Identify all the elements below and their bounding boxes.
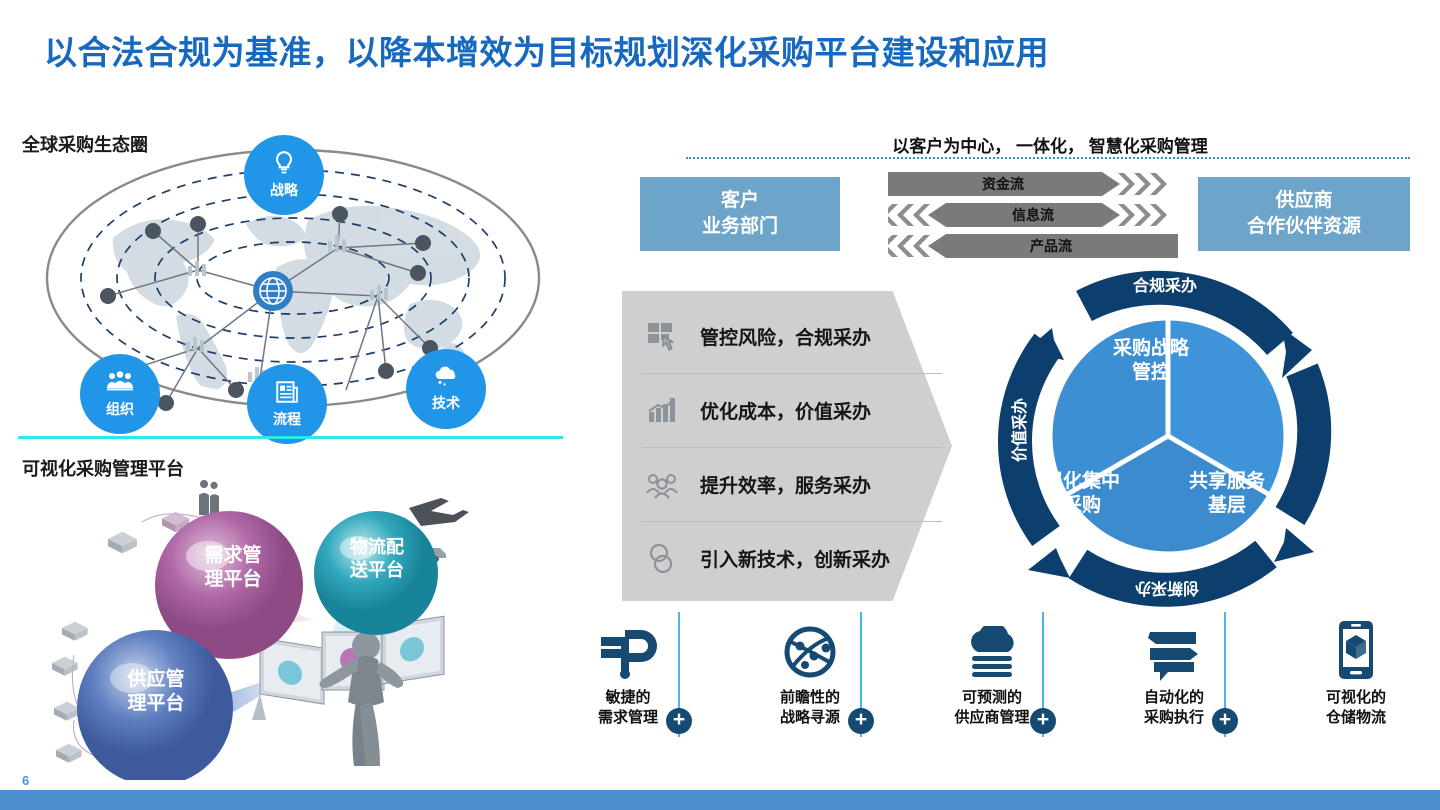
supplier-partner-box: 供应商 合作伙伴资源 bbox=[1198, 177, 1410, 251]
header-dotted-rule bbox=[686, 157, 1410, 159]
mobile-box-icon bbox=[1296, 620, 1416, 682]
cloud-icon bbox=[431, 365, 461, 389]
segment-centralized-line-1: 强化集中 bbox=[1044, 470, 1120, 494]
page-title: 以合法合规为基准，以降本增效为目标规划深化采购平台建设和应用 bbox=[44, 26, 1049, 74]
goal-item-innovation: 引入新技术，创新采办 bbox=[642, 522, 942, 595]
segment-centralized-line-2: 采购 bbox=[1044, 494, 1120, 518]
ring-label-compliance: 合规采办 bbox=[1133, 272, 1197, 296]
sphere-label-demand: 需求管 理平台 bbox=[178, 544, 288, 592]
plug-connector-icon bbox=[568, 620, 688, 682]
document-list-icon bbox=[274, 379, 300, 405]
goal-label-innovation: 引入新技术，创新采办 bbox=[700, 545, 890, 572]
flow-row-funds: 资金流 bbox=[888, 172, 1178, 196]
plus-icon-3: + bbox=[1030, 708, 1056, 734]
plus-icon-2: + bbox=[848, 708, 874, 734]
slide-root: 以合法合规为基准，以降本增效为目标规划深化采购平台建设和应用 全球采购生态圈 bbox=[0, 0, 1440, 810]
people-silhouette bbox=[199, 480, 219, 515]
click-tiles-icon bbox=[642, 317, 682, 357]
eco-node-strategy-label: 战略 bbox=[270, 180, 298, 200]
customer-box-line-1: 客户 bbox=[721, 188, 759, 214]
customer-department-box: 客户 业务部门 bbox=[640, 177, 840, 251]
ring-label-service: 服务采办 bbox=[1342, 398, 1366, 462]
linked-rings-icon bbox=[642, 539, 682, 579]
goal-label-cost: 优化成本，价值采办 bbox=[700, 397, 871, 424]
segment-strategy-line-1: 采购战略 bbox=[1113, 337, 1189, 361]
capability-warehouse-logistics-label: 可视化的 仓储物流 bbox=[1296, 688, 1416, 727]
flow-arrows-group: 资金流 信息流 产品流 bbox=[888, 172, 1178, 258]
flow-label-information: 信息流 bbox=[888, 203, 1178, 227]
goal-item-risk: 管控风险，合规采办 bbox=[642, 300, 942, 374]
goals-list: 管控风险，合规采办 优化成本，价值采办 bbox=[642, 300, 942, 595]
global-procurement-ecosystem-diagram: 战略 组织 流程 bbox=[8, 128, 578, 428]
procurement-strategy-donut bbox=[990, 258, 1346, 614]
segment-shared-line-1: 共享服务 bbox=[1189, 470, 1265, 494]
flow-label-product: 产品流 bbox=[888, 234, 1178, 258]
eco-node-process-label: 流程 bbox=[273, 409, 301, 429]
plus-icon-1: + bbox=[666, 708, 692, 734]
goal-label-efficiency: 提升效率，服务采办 bbox=[700, 471, 871, 498]
eco-node-technology[interactable]: 技术 bbox=[406, 349, 486, 429]
capability-warehouse-logistics[interactable]: 可视化的 仓储物流 bbox=[1296, 620, 1416, 727]
segment-label-strategy: 采购战略 管控 bbox=[1113, 337, 1189, 386]
footer-bar bbox=[0, 790, 1440, 810]
ring-label-innovation: 创新采办 bbox=[1135, 578, 1199, 602]
exchange-chat-icon bbox=[1114, 620, 1234, 682]
lightbulb-icon bbox=[271, 150, 297, 176]
eco-node-process[interactable]: 流程 bbox=[247, 364, 327, 444]
sphere-label-supply: 供应管 理平台 bbox=[100, 668, 212, 716]
ring-label-value: 价值采办 bbox=[1006, 398, 1030, 462]
goal-label-risk: 管控风险，合规采办 bbox=[700, 323, 871, 350]
segment-label-shared-service: 共享服务 基层 bbox=[1189, 470, 1265, 519]
supplier-box-line-2: 合作伙伴资源 bbox=[1247, 214, 1361, 240]
visual-procurement-platform-illustration: 需求管 理平台 供应管 理平台 物流配 送平台 bbox=[14, 470, 574, 780]
section-divider bbox=[18, 436, 563, 439]
flow-row-product: 产品流 bbox=[888, 234, 1178, 258]
plus-icon-4: + bbox=[1212, 708, 1238, 734]
airplane-icon bbox=[409, 498, 469, 526]
goal-item-efficiency: 提升效率，服务采办 bbox=[642, 448, 942, 522]
segment-label-centralized: 强化集中 采购 bbox=[1044, 470, 1120, 519]
capability-strip: 敏捷的 需求管理 + 前瞻性的 战略寻源 bbox=[560, 612, 1440, 772]
goal-item-cost: 优化成本，价值采办 bbox=[642, 374, 942, 448]
eco-node-organization-label: 组织 bbox=[106, 399, 134, 419]
eco-node-technology-label: 技术 bbox=[432, 393, 460, 413]
sphere-label-logistics: 物流配 送平台 bbox=[324, 536, 430, 581]
people-icon bbox=[642, 465, 682, 505]
flow-row-information: 信息流 bbox=[888, 203, 1178, 227]
right-header-title: 以客户为中心， 一体化， 智慧化采购管理 bbox=[690, 132, 1410, 157]
segment-strategy-line-2: 管控 bbox=[1113, 361, 1189, 385]
customer-box-line-2: 业务部门 bbox=[702, 214, 778, 240]
page-number: 6 bbox=[22, 773, 29, 788]
flow-label-funds: 资金流 bbox=[888, 172, 1178, 196]
cloud-data-icon bbox=[932, 620, 1052, 682]
eco-node-strategy[interactable]: 战略 bbox=[244, 135, 324, 215]
supplier-box-line-1: 供应商 bbox=[1275, 188, 1332, 214]
center-globe-icon bbox=[253, 271, 293, 311]
globe-network-icon bbox=[750, 620, 870, 682]
bar-chart-up-icon bbox=[642, 391, 682, 431]
people-group-icon bbox=[106, 369, 134, 395]
segment-shared-line-2: 基层 bbox=[1189, 494, 1265, 518]
eco-node-organization[interactable]: 组织 bbox=[80, 354, 160, 434]
